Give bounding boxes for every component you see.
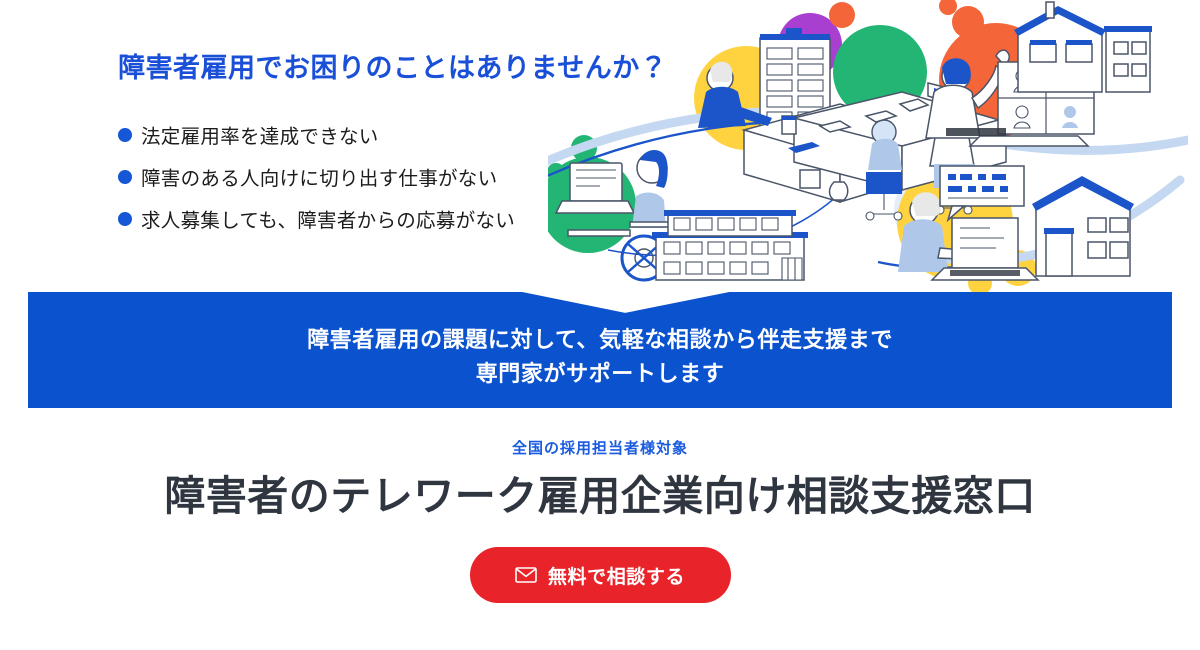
pain-point-label: 求人募集しても、障害者からの応募がない	[141, 204, 515, 233]
house-building-1	[1014, 2, 1152, 92]
bullet-dot-icon	[118, 212, 132, 226]
list-item: 求人募集しても、障害者からの応募がない	[118, 198, 618, 240]
list-item: 障害のある人向けに切り出す仕事がない	[118, 156, 618, 198]
pain-point-list: 法定雇用率を達成できない 障害のある人向けに切り出す仕事がない 求人募集しても、…	[118, 114, 618, 240]
hero-illustration: .ln { fill:none; stroke:#1B55C9; stroke-…	[548, 0, 1188, 300]
banner-line-1: 障害者雇用の課題に対して、気軽な相談から伴走支援まで	[307, 323, 893, 357]
hero-copy-block: 障害者雇用でお困りのことはありませんか？ 法定雇用率を達成できない 障害のある人…	[118, 52, 618, 240]
pain-point-label: 障害のある人向けに切り出す仕事がない	[141, 162, 497, 191]
pain-point-label: 法定雇用率を達成できない	[141, 120, 379, 149]
page-title: 障害者のテレワーク雇用企業向け相談支援窓口	[0, 472, 1200, 521]
cta-button-label: 無料で相談する	[548, 562, 685, 589]
support-banner: 障害者雇用の課題に対して、気軽な相談から伴走支援まで 専門家がサポートします	[28, 292, 1172, 408]
cta-button-wrap: 無料で相談する	[0, 547, 1200, 603]
list-item: 法定雇用率を達成できない	[118, 114, 618, 156]
free-consultation-button[interactable]: 無料で相談する	[470, 547, 731, 603]
bullet-dot-icon	[118, 128, 132, 142]
house-building-2	[1032, 176, 1134, 276]
cta-section: 全国の採用担当者様対象 障害者のテレワーク雇用企業向け相談支援窓口 無料で相談す…	[0, 440, 1200, 603]
bullet-dot-icon	[118, 170, 132, 184]
long-building	[652, 210, 808, 280]
cta-eyebrow: 全国の採用担当者様対象	[0, 440, 1200, 458]
banner-line-2: 専門家がサポートします	[476, 357, 725, 391]
mail-icon	[515, 567, 537, 583]
landing-page: 障害者雇用でお困りのことはありませんか？ 法定雇用率を達成できない 障害のある人…	[0, 0, 1200, 650]
hero-heading: 障害者雇用でお困りのことはありませんか？	[118, 52, 618, 86]
